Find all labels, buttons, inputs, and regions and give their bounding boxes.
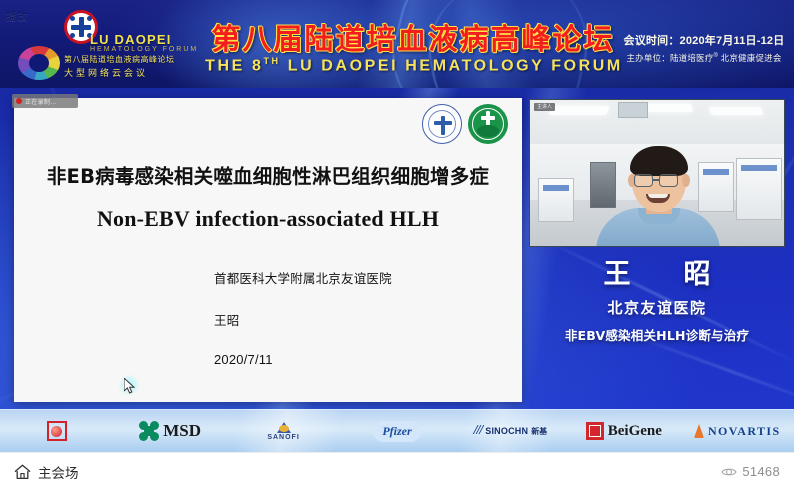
sponsor-logo-strip: MSD SANOFI Pfizer /// SINOCHN 新基 — [0, 409, 794, 452]
subtitle-rest: LU DAOPEI HEMATOLOGY FORUM — [281, 57, 623, 74]
hospital-green-logo-icon — [468, 104, 508, 144]
speaker-organization: 北京友谊医院 — [529, 297, 785, 318]
eye-icon — [721, 466, 737, 478]
singchn-logo-icon: /// SINOCHN 新基 — [474, 423, 548, 439]
sponsor-name: NOVARTIS — [708, 424, 781, 439]
home-icon — [14, 464, 31, 480]
subtitle-ordinal: TH — [263, 56, 280, 66]
ceiling-light — [645, 104, 693, 112]
conference-banner: LU DAOPEI HEMATOLOGY FORUM 第八届陆道培血液病高峰论坛… — [0, 0, 794, 88]
speaker-topic: 非EBV感染相关HLH诊断与治疗 — [529, 325, 785, 344]
lab-cabinet — [538, 178, 574, 222]
speaker-ear — [682, 174, 690, 187]
lab-refrigerator — [736, 158, 782, 220]
presentation-slide[interactable]: 正在录制… 非EB病毒感染相关噬血细胞性淋巴组织细胞增多症 Non-EBV in… — [14, 98, 522, 402]
bottom-toolbar: 主会场 51468 — [0, 452, 794, 490]
conference-meta: 会议时间：2020年7月11日-12日 主办单位：陆道培医疗® 北京健康促进会 — [620, 34, 788, 66]
subtitle-prefix: THE 8 — [205, 57, 263, 74]
sponsor-name: SANOFI — [267, 434, 299, 441]
speaker-teeth — [648, 194, 668, 198]
conference-host: 主办单位：陆道培医疗® 北京健康促进会 — [620, 49, 788, 66]
video-stage: 播放 LU DAOPEI HEMATOLOGY FORUM 第八届陆道培血液病高… — [0, 0, 794, 452]
novartis-logo-icon: NOVARTIS — [694, 424, 781, 439]
sponsor-red-ring — [0, 410, 113, 452]
host-prefix: 主办单位：陆道培医疗 — [626, 53, 713, 63]
ceiling-light — [548, 106, 610, 115]
sponsor-name: SINOCHN — [485, 426, 528, 436]
slide-affiliation: 首都医科大学附属北京友谊医院 — [214, 268, 392, 287]
sponsor-sanofi: SANOFI — [227, 410, 340, 452]
sanofi-logo-icon: SANOFI — [267, 421, 299, 441]
cursor-arrow-icon — [124, 378, 136, 394]
recording-label: 正在录制… — [25, 97, 57, 106]
beigene-logo-icon — [586, 422, 604, 440]
ceiling-light — [708, 107, 764, 115]
glasses-bridge — [653, 179, 659, 181]
sponsor-name: BeiGene — [608, 423, 662, 440]
speaker-caption: 王 昭 北京友谊医院 非EBV感染相关HLH诊断与治疗 — [529, 252, 785, 344]
glasses-lens — [634, 174, 653, 187]
speaker-video-feed[interactable]: 主讲人 — [529, 99, 785, 247]
viewer-count: 51468 — [721, 464, 780, 479]
room-selector[interactable]: 主会场 — [14, 462, 79, 482]
mouse-cursor — [118, 374, 140, 396]
sponsor-pfizer: Pfizer — [340, 410, 453, 452]
live-stream-page: 播放 LU DAOPEI HEMATOLOGY FORUM 第八届陆道培血液病高… — [0, 0, 794, 490]
sponsor-name: MSD — [163, 421, 201, 441]
speaker-name: 王 昭 — [529, 252, 785, 291]
sponsor-novartis: NOVARTIS — [681, 410, 794, 452]
slide-title-english: Non-EBV infection-associated HLH — [14, 206, 522, 232]
play-watermark: 播放 — [6, 8, 28, 23]
recording-badge: 正在录制… — [12, 94, 78, 108]
msd-logo-icon — [139, 421, 159, 441]
slide-title-chinese: 非EB病毒感染相关噬血细胞性淋巴组织细胞增多症 — [14, 160, 522, 189]
sponsor-name-cn: 新基 — [531, 426, 547, 437]
slide-date: 2020/7/11 — [214, 352, 392, 367]
room-label: 主会场 — [38, 462, 79, 482]
hospital-blue-logo-icon — [422, 104, 462, 144]
speaker-hair — [630, 146, 688, 176]
pfizer-logo-icon: Pfizer — [373, 421, 420, 442]
host-rest: 北京健康促进会 — [718, 53, 781, 63]
ceiling-vent — [618, 102, 648, 118]
video-label: 主讲人 — [534, 103, 555, 111]
glasses-lens — [659, 174, 678, 187]
slide-logo-group — [422, 104, 508, 144]
red-ring-logo-icon — [47, 421, 67, 441]
conference-time: 会议时间：2020年7月11日-12日 — [620, 34, 788, 49]
slide-presenter: 王昭 — [214, 310, 392, 329]
views-count-text: 51468 — [742, 464, 780, 479]
speaker-portrait — [588, 134, 728, 247]
slide-presenter-block: 首都医科大学附属北京友谊医院 王昭 2020/7/11 — [214, 268, 392, 390]
sponsor-singchn: /// SINOCHN 新基 — [454, 410, 567, 452]
sponsor-beigene: BeiGene — [567, 410, 680, 452]
sponsor-msd: MSD — [113, 410, 226, 452]
record-dot-icon — [16, 98, 22, 104]
